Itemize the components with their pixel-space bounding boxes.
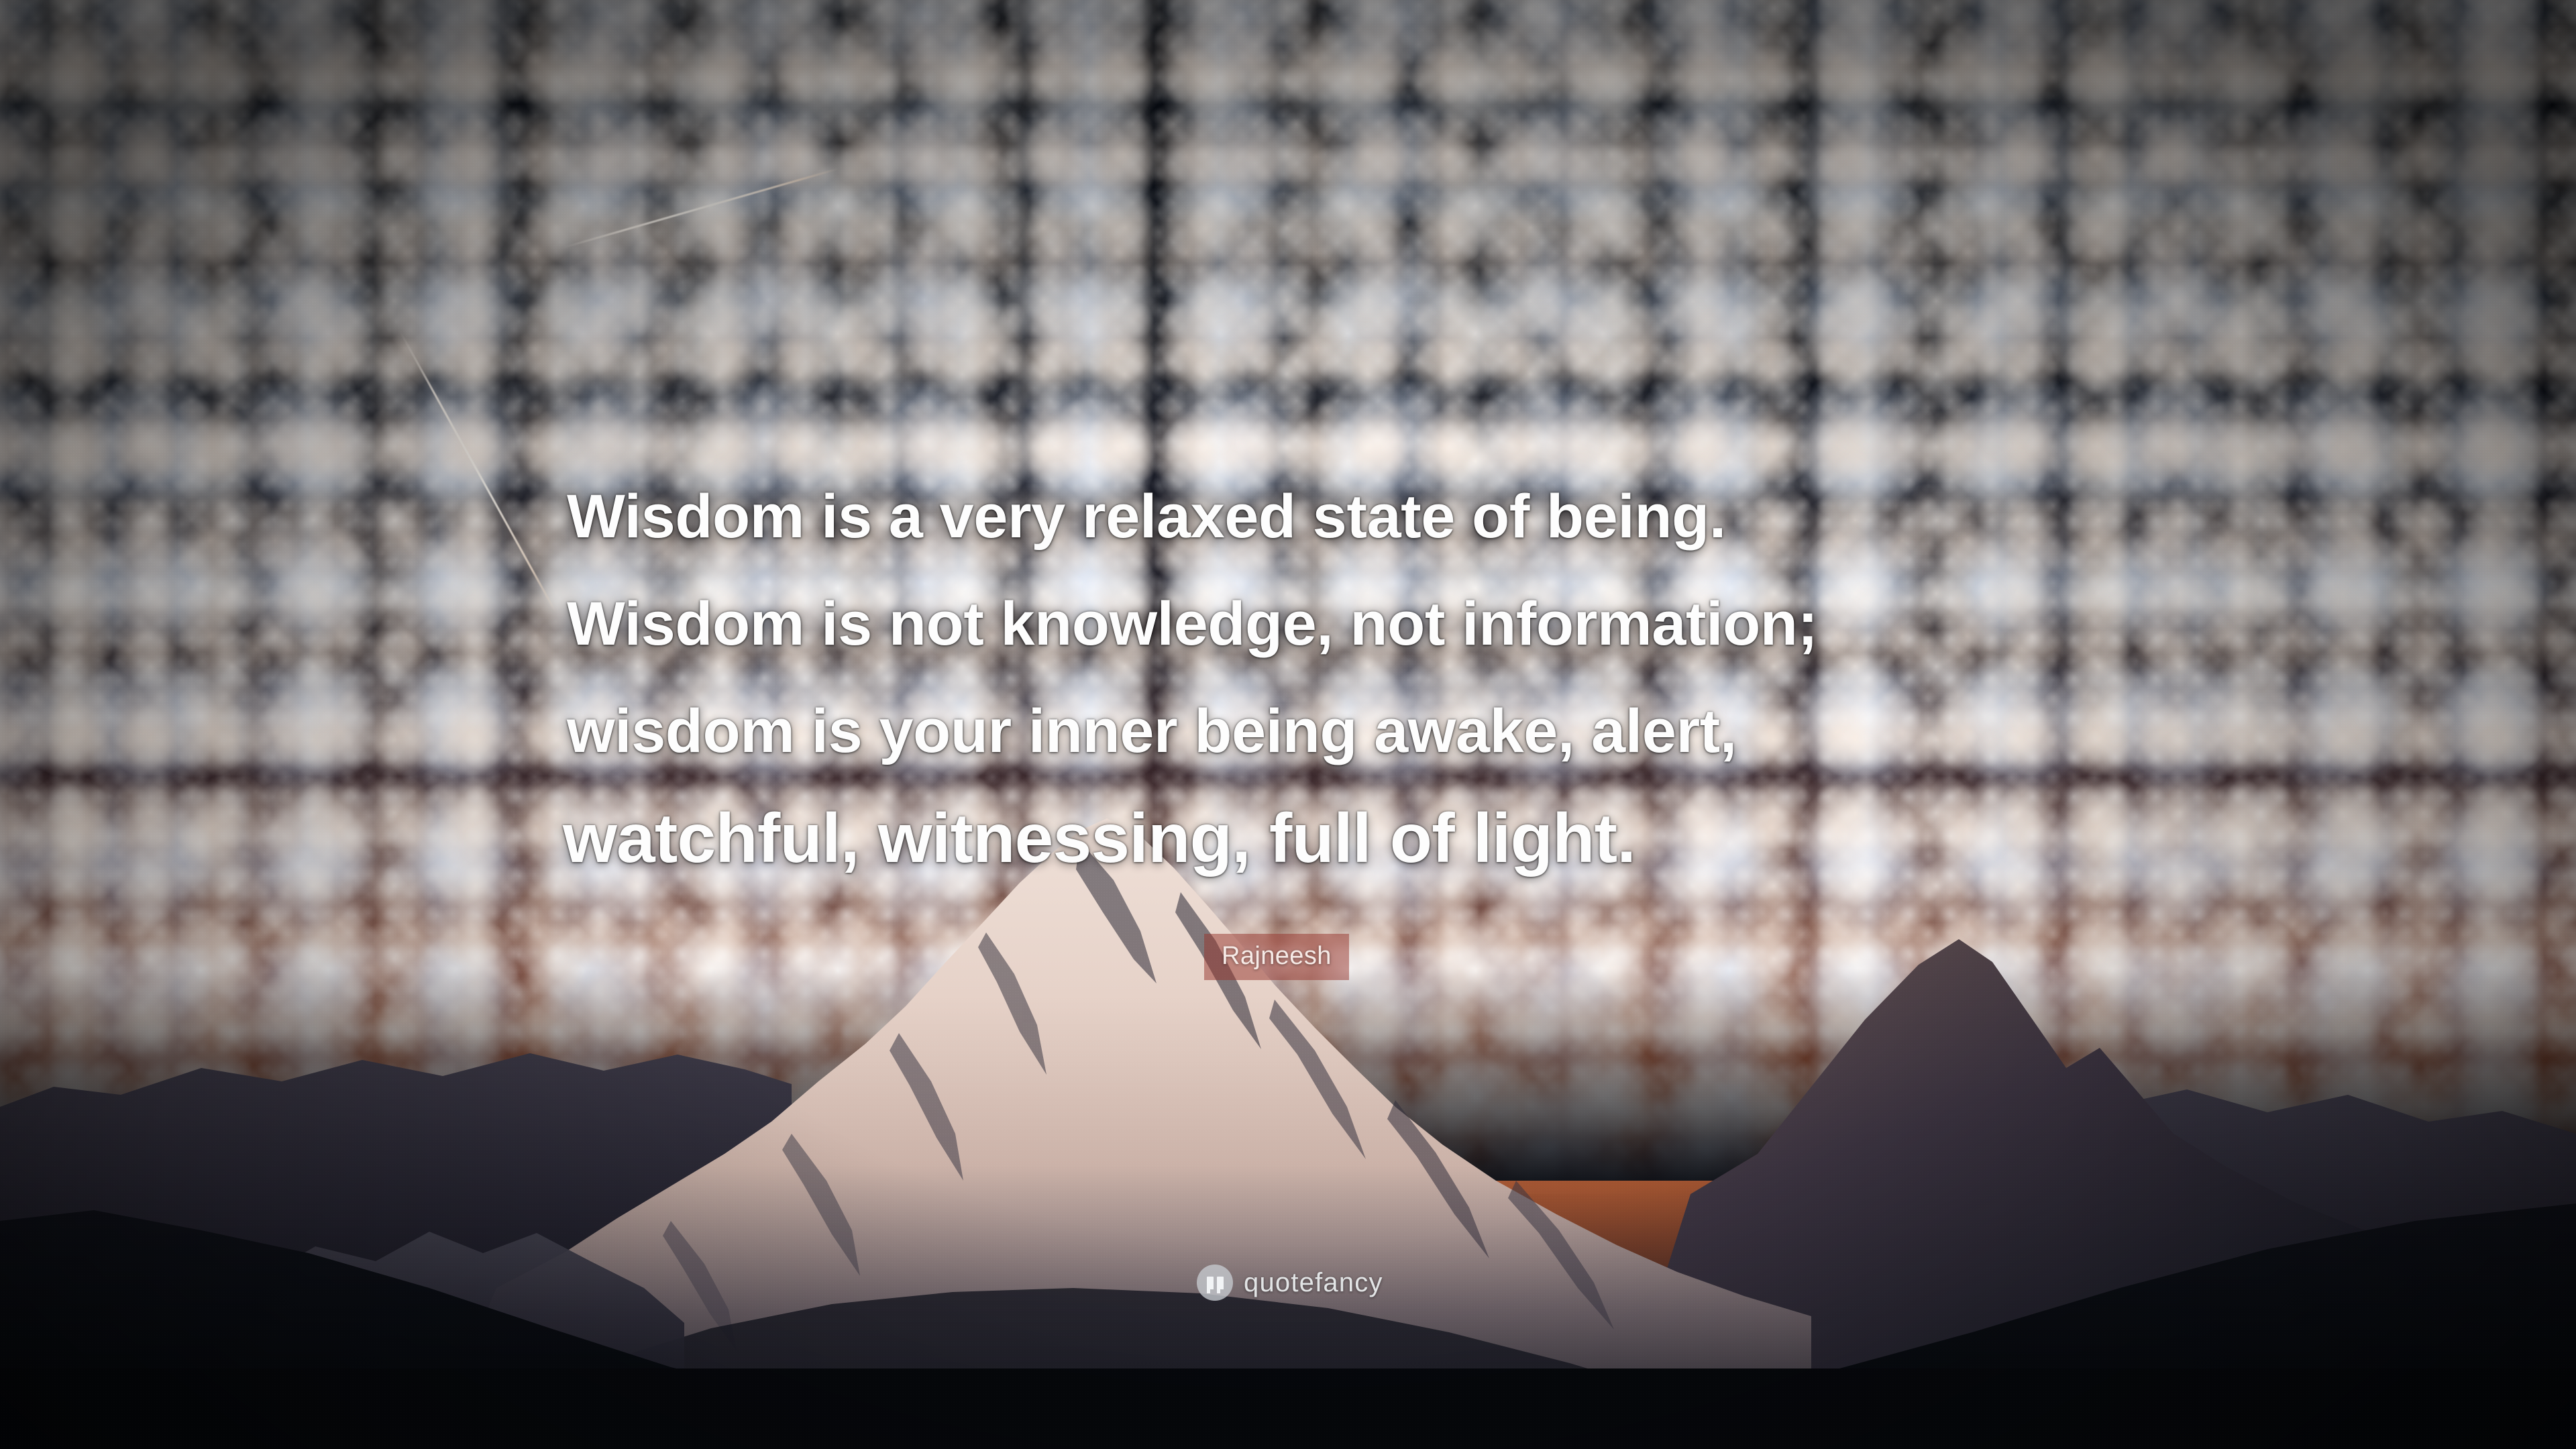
quote-line-2: Wisdom is not knowledge, not information… [567,570,2029,678]
quote-text-block: Wisdom is a very relaxed state of being.… [567,463,2029,892]
quote-line-4: watchful, witnessing, full of light. [563,785,2029,892]
quotefancy-watermark[interactable]: quotefancy [1197,1265,1383,1301]
quote-mark-icon [1197,1265,1233,1301]
watermark-brand-label: quotefancy [1244,1268,1383,1297]
mountain-range [0,818,2576,1449]
author-badge[interactable]: Rajneesh [1204,934,1349,980]
quote-poster: Wisdom is a very relaxed state of being.… [0,0,2576,1449]
quote-line-1: Wisdom is a very relaxed state of being. [567,463,2029,570]
quote-line-3: wisdom is your inner being awake, alert, [567,678,2029,785]
bottom-fill [0,1368,2576,1449]
